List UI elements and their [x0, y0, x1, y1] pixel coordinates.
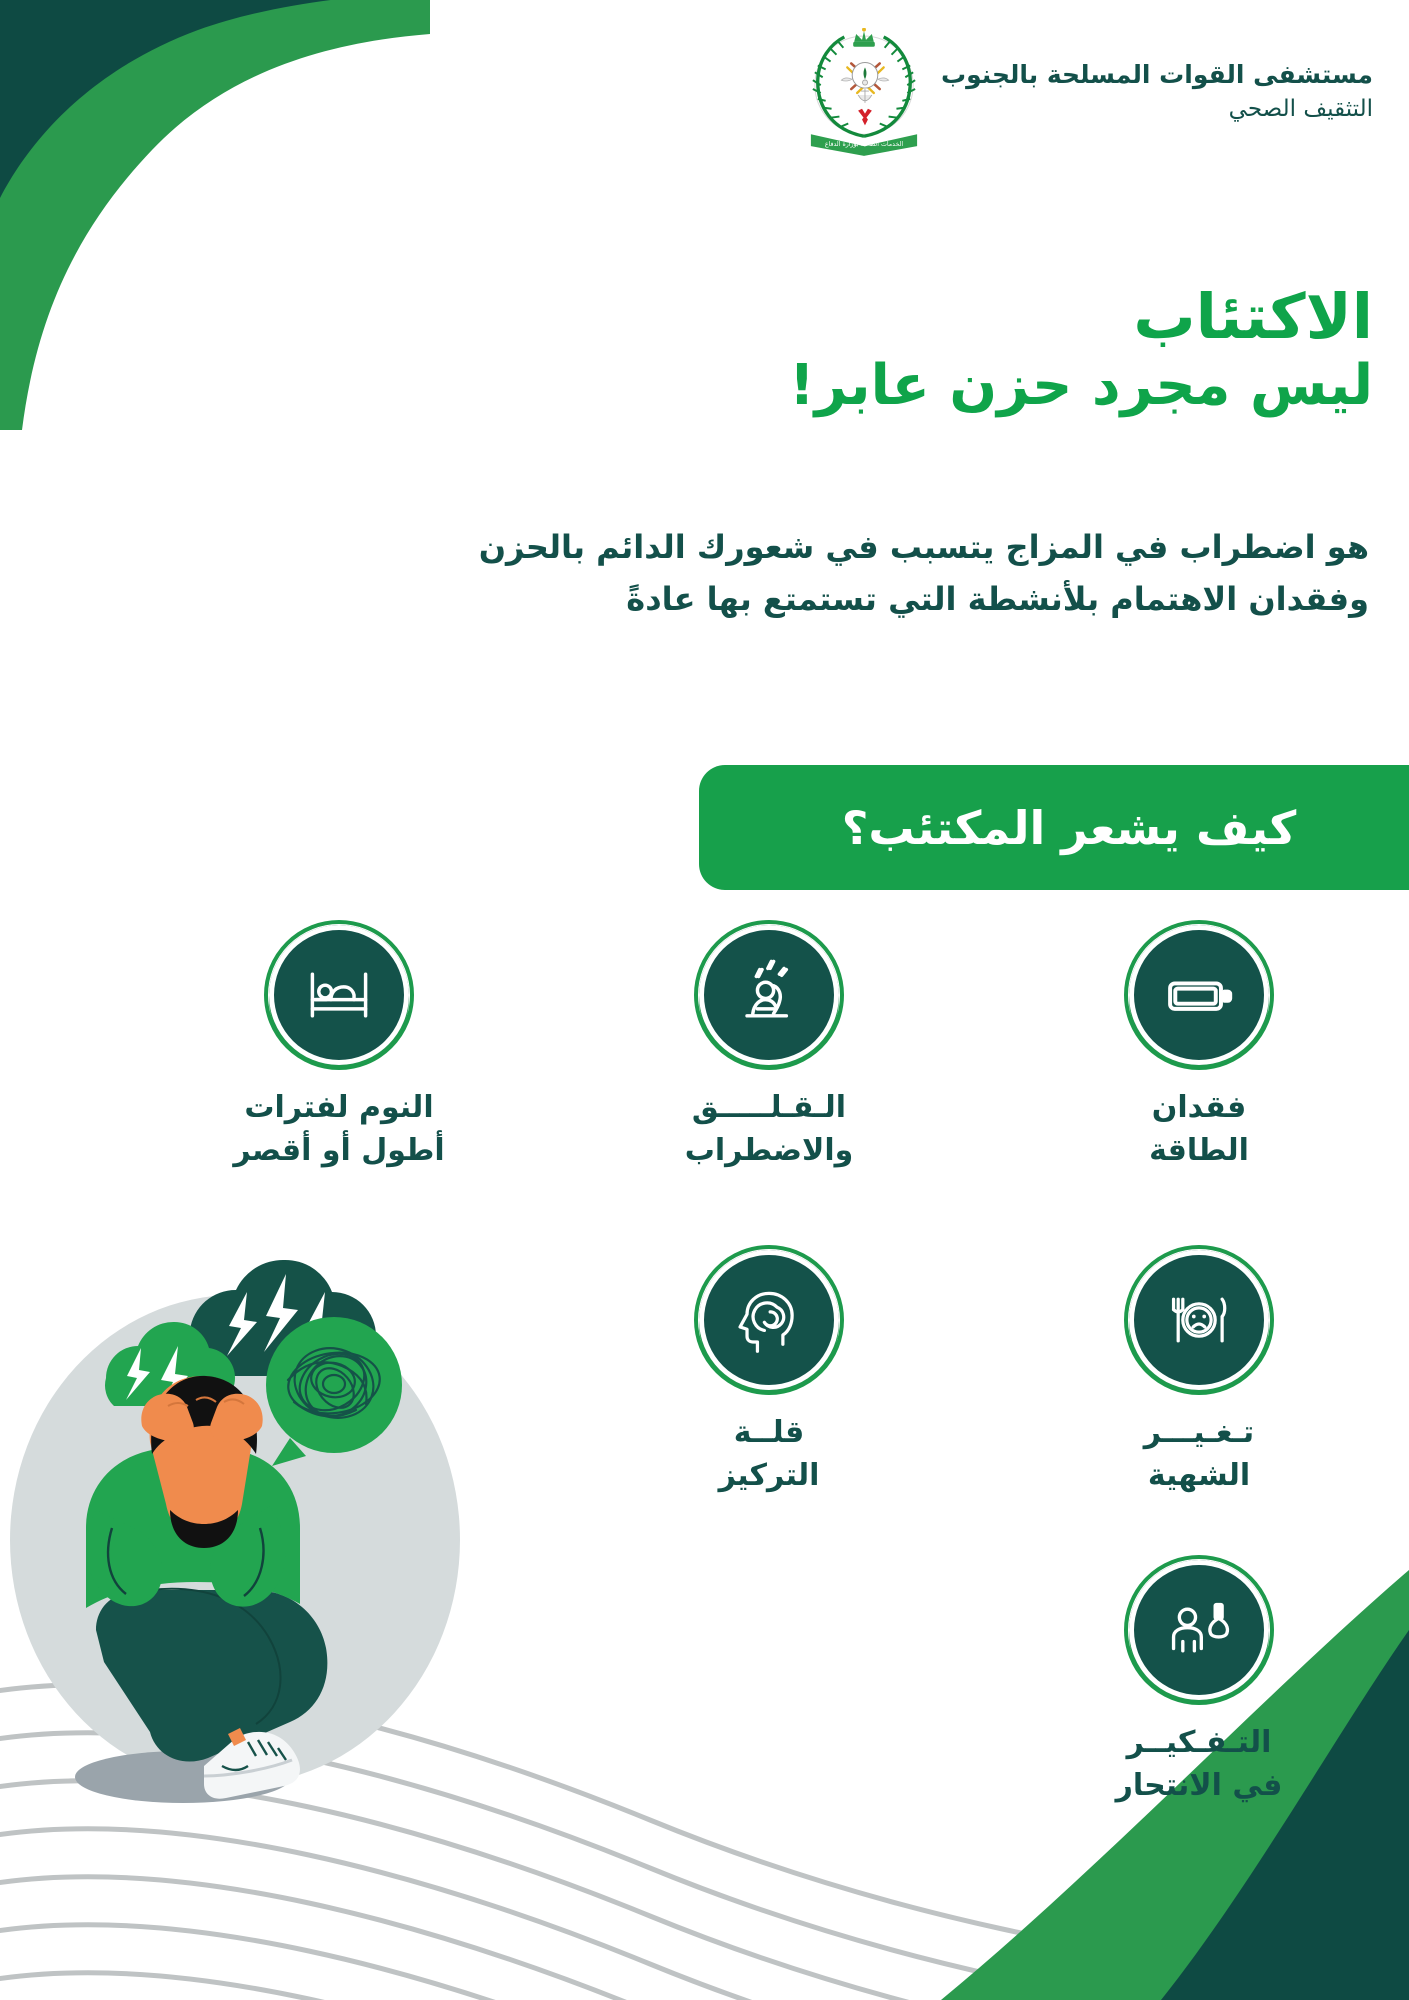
symptom-sleep: النوم لفترات أطول أو أقصر — [189, 925, 489, 1172]
symptom-label-line2: أطول أو أقصر — [189, 1130, 489, 1173]
header-text-block: مستشفى القوات المسلحة بالجنوب التثقيف ال… — [941, 57, 1373, 127]
symptom-appetite: تـغـيـــر الشهية — [1049, 1250, 1349, 1497]
symptom-label-line2: الشهية — [1049, 1455, 1349, 1498]
head-spiral-icon — [732, 1283, 806, 1357]
person-noose-icon — [1162, 1593, 1236, 1667]
symptom-label: النوم لفترات أطول أو أقصر — [189, 1087, 489, 1172]
symptom-icon-circle — [269, 925, 409, 1065]
symptom-label-line2: في الانتحار — [1049, 1765, 1349, 1808]
symptom-label-line1: قلــة — [619, 1412, 919, 1455]
section-banner: كيف يشعر المكتئب؟ — [699, 765, 1409, 890]
symptom-anxiety: الـقـلـــــق والاضطراب — [619, 925, 919, 1172]
bed-sleep-icon — [302, 958, 376, 1032]
symptom-icon-circle — [1129, 925, 1269, 1065]
organization-name: مستشفى القوات المسلحة بالجنوب — [941, 57, 1373, 93]
symptom-icon-circle — [1129, 1250, 1269, 1390]
symptom-label: الـقـلـــــق والاضطراب — [619, 1087, 919, 1172]
stressed-person-icon — [732, 958, 806, 1032]
empty-battery-icon — [1162, 958, 1236, 1032]
symptom-suicide: التـفـكيــر في الانتحار — [1049, 1560, 1349, 1807]
intro-line-1: هو اضطراب في المزاج يتسبب في شعورك الدائ… — [169, 522, 1369, 574]
symptom-label-line2: التركيز — [619, 1455, 919, 1498]
department-name: التثقيف الصحي — [941, 93, 1373, 126]
distressed-person-illustration — [0, 1210, 520, 1820]
symptom-label-line1: فقدان — [1049, 1087, 1349, 1130]
section-banner-heading: كيف يشعر المكتئب؟ — [812, 801, 1297, 855]
page-title: الاكتئاب ليس مجرد حزن عابر! — [213, 282, 1373, 421]
symptom-label: فقدان الطاقة — [1049, 1087, 1349, 1172]
symptom-label: تـغـيـــر الشهية — [1049, 1412, 1349, 1497]
symptom-energy: فقدان الطاقة — [1049, 925, 1349, 1172]
intro-paragraph: هو اضطراب في المزاج يتسبب في شعورك الدائ… — [169, 522, 1369, 626]
symptom-label-line1: التـفـكيــر — [1049, 1722, 1349, 1765]
symptom-focus: قلــة التركيز — [619, 1250, 919, 1497]
logo-ribbon-text: الخدمات الصحية بوزارة الدفاع — [825, 141, 904, 148]
symptom-label-line1: الـقـلـــــق — [619, 1087, 919, 1130]
sad-plate-cutlery-icon — [1162, 1283, 1236, 1357]
intro-line-2: وفقدان الاهتمام بلأنشطة التي تستمتع بها … — [169, 574, 1369, 626]
symptom-label-line2: والاضطراب — [619, 1130, 919, 1173]
symptom-label: التـفـكيــر في الانتحار — [1049, 1722, 1349, 1807]
symptom-icon-circle — [699, 925, 839, 1065]
symptom-label-line1: النوم لفترات — [189, 1087, 489, 1130]
symptom-icon-circle — [1129, 1560, 1269, 1700]
title-primary: الاكتئاب — [213, 282, 1373, 351]
symptom-label: قلــة التركيز — [619, 1412, 919, 1497]
page-header: مستشفى القوات المسلحة بالجنوب التثقيف ال… — [805, 28, 1373, 156]
symptom-label-line2: الطاقة — [1049, 1130, 1349, 1173]
title-secondary: ليس مجرد حزن عابر! — [213, 351, 1373, 421]
armed-forces-medical-services-logo: الخدمات الصحية بوزارة الدفاع — [805, 28, 923, 156]
symptom-label-line1: تـغـيـــر — [1049, 1412, 1349, 1455]
symptom-icon-circle — [699, 1250, 839, 1390]
